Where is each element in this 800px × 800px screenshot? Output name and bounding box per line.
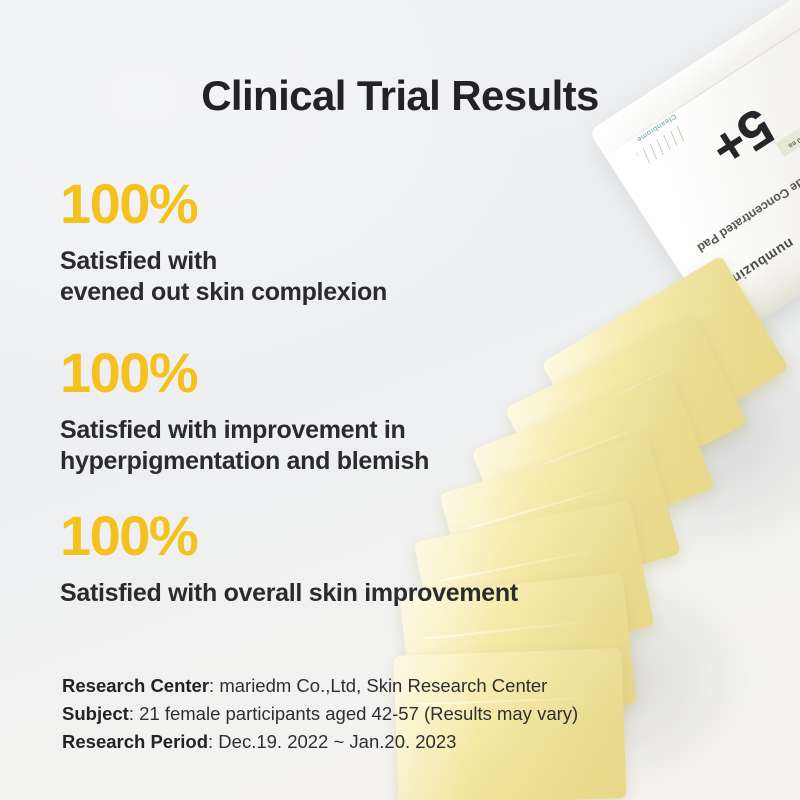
pouch-bottom-band: [701, 168, 800, 343]
result-statement-line: evened out skin complexion: [60, 277, 387, 308]
research-detail-label: Subject: [62, 703, 129, 724]
result-block: 100% Satisfied with evened out skin comp…: [60, 176, 387, 308]
research-detail-row: Subject: 21 female participants aged 42-…: [62, 700, 578, 728]
research-detail-row: Research Period: Dec.19. 2022 ~ Jan.20. …: [62, 728, 578, 756]
research-detail-separator: :: [208, 731, 218, 752]
research-detail-separator: :: [129, 703, 139, 724]
pouch-description-label: Vitamin-Niacinamide Concentrated Pad: [694, 115, 800, 255]
pouch-tick-marks: [636, 124, 690, 167]
result-statement-line: Satisfied with: [60, 246, 387, 277]
result-statement-line: Satisfied with overall skin improvement: [60, 578, 518, 609]
research-detail-row: Research Center: mariedm Co.,Ltd, Skin R…: [62, 672, 578, 700]
page-title: Clinical Trial Results: [0, 72, 800, 120]
research-detail-separator: :: [209, 675, 219, 696]
result-statement: Satisfied with improvement in hyperpigme…: [60, 415, 429, 477]
research-detail-label: Research Period: [62, 731, 208, 752]
research-detail-label: Research Center: [62, 675, 209, 696]
result-statement: Satisfied with overall skin improvement: [60, 578, 518, 609]
result-statement-line: Satisfied with improvement in: [60, 415, 429, 446]
pad-sheet: [504, 316, 747, 517]
research-detail-value: mariedm Co.,Ltd, Skin Research Center: [219, 675, 547, 696]
pouch-shadow: [560, 300, 800, 560]
pad-sheet: [541, 255, 789, 476]
research-detail-value: 21 female participants aged 42-57 (Resul…: [139, 703, 578, 724]
research-detail-value: Dec.19. 2022 ~ Jan.20. 2023: [218, 731, 456, 752]
pouch-sheen: [589, 0, 800, 343]
result-block: 100% Satisfied with improvement in hyper…: [60, 345, 429, 477]
product-pouch: Cleanbiome 5+ 70 g 80 ea Vitamin-Niacina…: [589, 0, 800, 343]
pouch-brand-label: numbuzin: [729, 235, 797, 287]
result-percent: 100%: [60, 508, 518, 564]
research-details: Research Center: mariedm Co.,Ltd, Skin R…: [62, 672, 578, 756]
result-statement: Satisfied with evened out skin complexio…: [60, 246, 387, 308]
result-percent: 100%: [60, 345, 429, 401]
result-statement-line: hyperpigmentation and blemish: [60, 446, 429, 477]
clinical-trial-results-graphic: Cleanbiome 5+ 70 g 80 ea Vitamin-Niacina…: [0, 0, 800, 800]
result-block: 100% Satisfied with overall skin improve…: [60, 508, 518, 609]
pouch-volume-label: 70 g 80 ea: [787, 125, 800, 149]
result-percent: 100%: [60, 176, 387, 232]
